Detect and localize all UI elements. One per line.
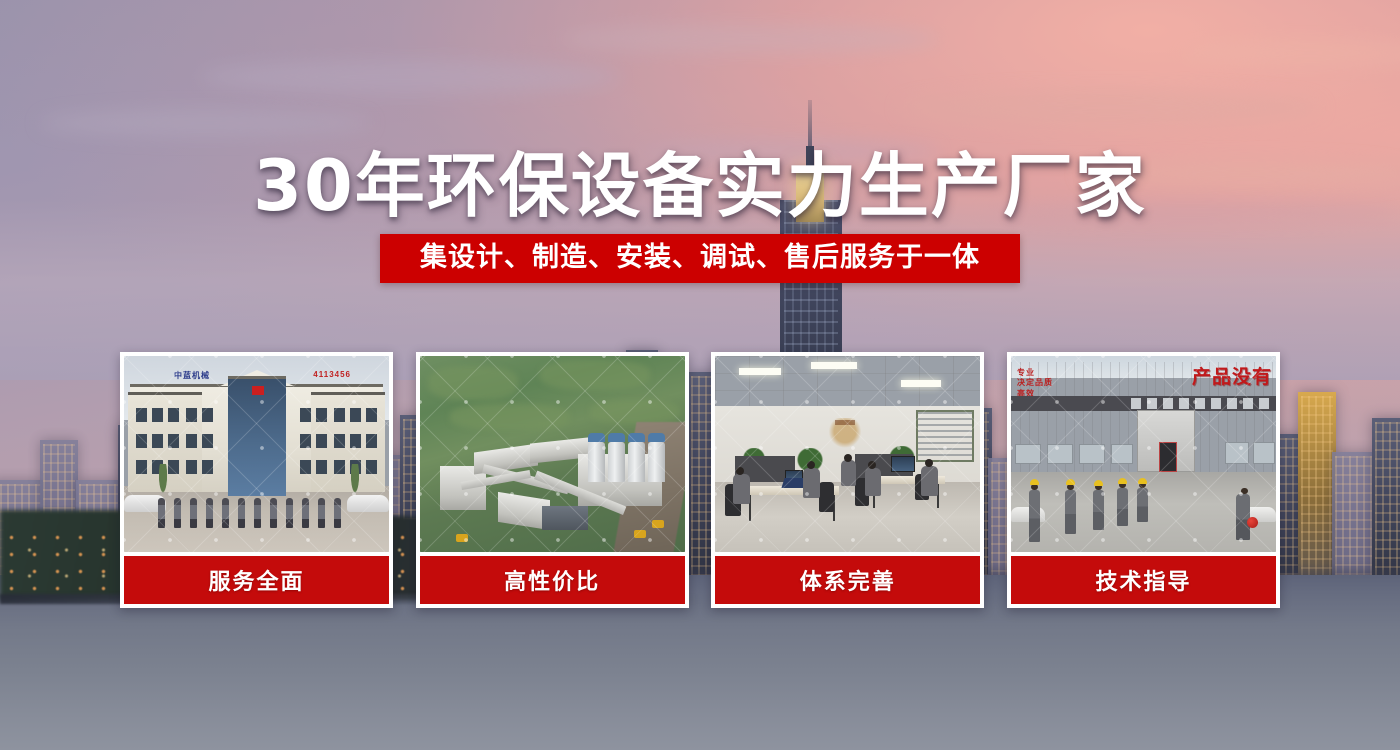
card-photo-headquarters: 中蓝机械 4113456: [124, 356, 389, 552]
card-photo-factory-workers: 产品没有 专业决定品质高效成就辉煌: [1011, 356, 1276, 552]
card-photo-office-interior: [715, 356, 980, 552]
feature-card[interactable]: 体系完善: [711, 352, 984, 608]
card-caption: 高性价比: [420, 556, 685, 604]
cloud-streak: [900, 90, 1320, 126]
feature-card[interactable]: 中蓝机械 4113456: [120, 352, 393, 608]
cloud-streak: [560, 24, 940, 54]
page-title: 30年环保设备实力生产厂家: [0, 130, 1400, 231]
factory-sign-text: 产品没有: [1192, 362, 1272, 389]
feature-card[interactable]: 高性价比: [416, 352, 689, 608]
feature-card-row: 中蓝机械 4113456: [120, 352, 1280, 608]
feature-card[interactable]: 产品没有 专业决定品质高效成就辉煌: [1007, 352, 1280, 608]
card-caption: 体系完善: [715, 556, 980, 604]
subbanner-wrap: 集设计、制造、安装、调试、售后服务于一体: [0, 234, 1400, 283]
card-caption: 技术指导: [1011, 556, 1276, 604]
building-phone-text: 4113456: [313, 370, 351, 379]
subtitle-banner: 集设计、制造、安装、调试、售后服务于一体: [380, 234, 1020, 283]
promo-banner-stage: 30年环保设备实力生产厂家 集设计、制造、安装、调试、售后服务于一体 中蓝机械 …: [0, 0, 1400, 750]
card-photo-plant-aerial: [420, 356, 685, 552]
building-sign-text: 中蓝机械: [174, 370, 210, 381]
cloud-streak: [200, 60, 620, 94]
card-caption: 服务全面: [124, 556, 389, 604]
